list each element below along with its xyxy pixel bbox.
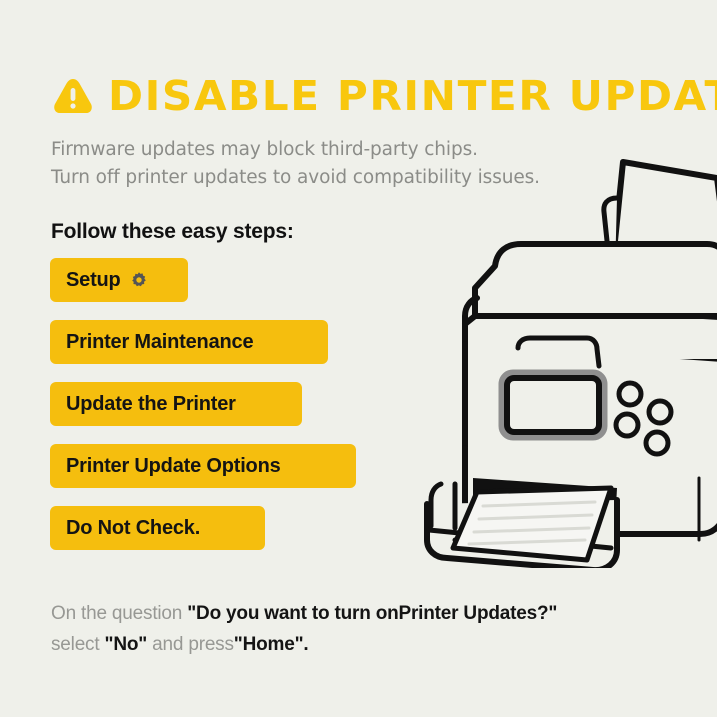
page-title: DISABLE PRINTER UPDATES xyxy=(108,76,717,117)
rear-paper-tray xyxy=(608,162,717,318)
footer-home-quote: "Home" xyxy=(234,634,304,655)
printer-body xyxy=(465,344,717,540)
step-pill-do-not-check[interactable]: Do Not Check. xyxy=(50,506,265,550)
step-pill-update-the-printer[interactable]: Update the Printer xyxy=(50,382,302,426)
infographic-canvas: DISABLE PRINTER UPDATES Firmware updates… xyxy=(0,0,717,717)
footer-note: On the question "Do you want to turn onP… xyxy=(51,598,557,660)
step-pill-printer-maintenance[interactable]: Printer Maintenance xyxy=(50,320,328,364)
footer-prefix: On the question xyxy=(51,603,187,624)
step-label: Setup xyxy=(66,269,121,292)
footer-select-prefix: select xyxy=(51,634,105,655)
sheet-text-lines xyxy=(469,502,595,544)
step-label: Printer Maintenance xyxy=(66,331,253,354)
steps-heading: Follow these easy steps: xyxy=(51,220,294,244)
output-tray-slot xyxy=(473,478,617,526)
subtitle-block: Firmware updates may block third-party c… xyxy=(51,136,540,192)
printer-illustration xyxy=(355,148,717,568)
header-title-row: DISABLE PRINTER UPDATES xyxy=(52,68,717,124)
control-buttons xyxy=(616,383,671,454)
step-pill-setup[interactable]: Setup xyxy=(50,258,188,302)
output-tray xyxy=(427,484,617,568)
footer-suffix: . xyxy=(303,634,308,655)
footer-question-quote: "Do you want to turn onPrinter Updates?" xyxy=(187,603,557,624)
footer-answer-quote: "No" xyxy=(105,634,148,655)
gear-icon xyxy=(130,271,148,289)
step-label: Update the Printer xyxy=(66,393,236,416)
subtitle-line-1: Firmware updates may block third-party c… xyxy=(51,136,540,164)
warning-triangle-icon xyxy=(52,76,94,116)
steps-list: Setup Printer Maintenance Update the Pri… xyxy=(50,258,356,568)
footer-note-line-2: select "No" and press"Home". xyxy=(51,629,557,660)
control-panel-screen xyxy=(503,374,603,436)
lid-latch-tab xyxy=(518,338,599,366)
paper-guide-arm xyxy=(604,198,617,308)
step-label: Printer Update Options xyxy=(66,455,281,478)
step-pill-printer-update-options[interactable]: Printer Update Options xyxy=(50,444,356,488)
subtitle-line-2: Turn off printer updates to avoid compat… xyxy=(51,164,540,192)
step-label: Do Not Check. xyxy=(66,517,200,540)
scanner-lid xyxy=(465,244,717,362)
footer-note-line-1: On the question "Do you want to turn onP… xyxy=(51,598,557,629)
printed-sheet xyxy=(453,488,611,560)
footer-middle-text: and press xyxy=(147,634,234,655)
